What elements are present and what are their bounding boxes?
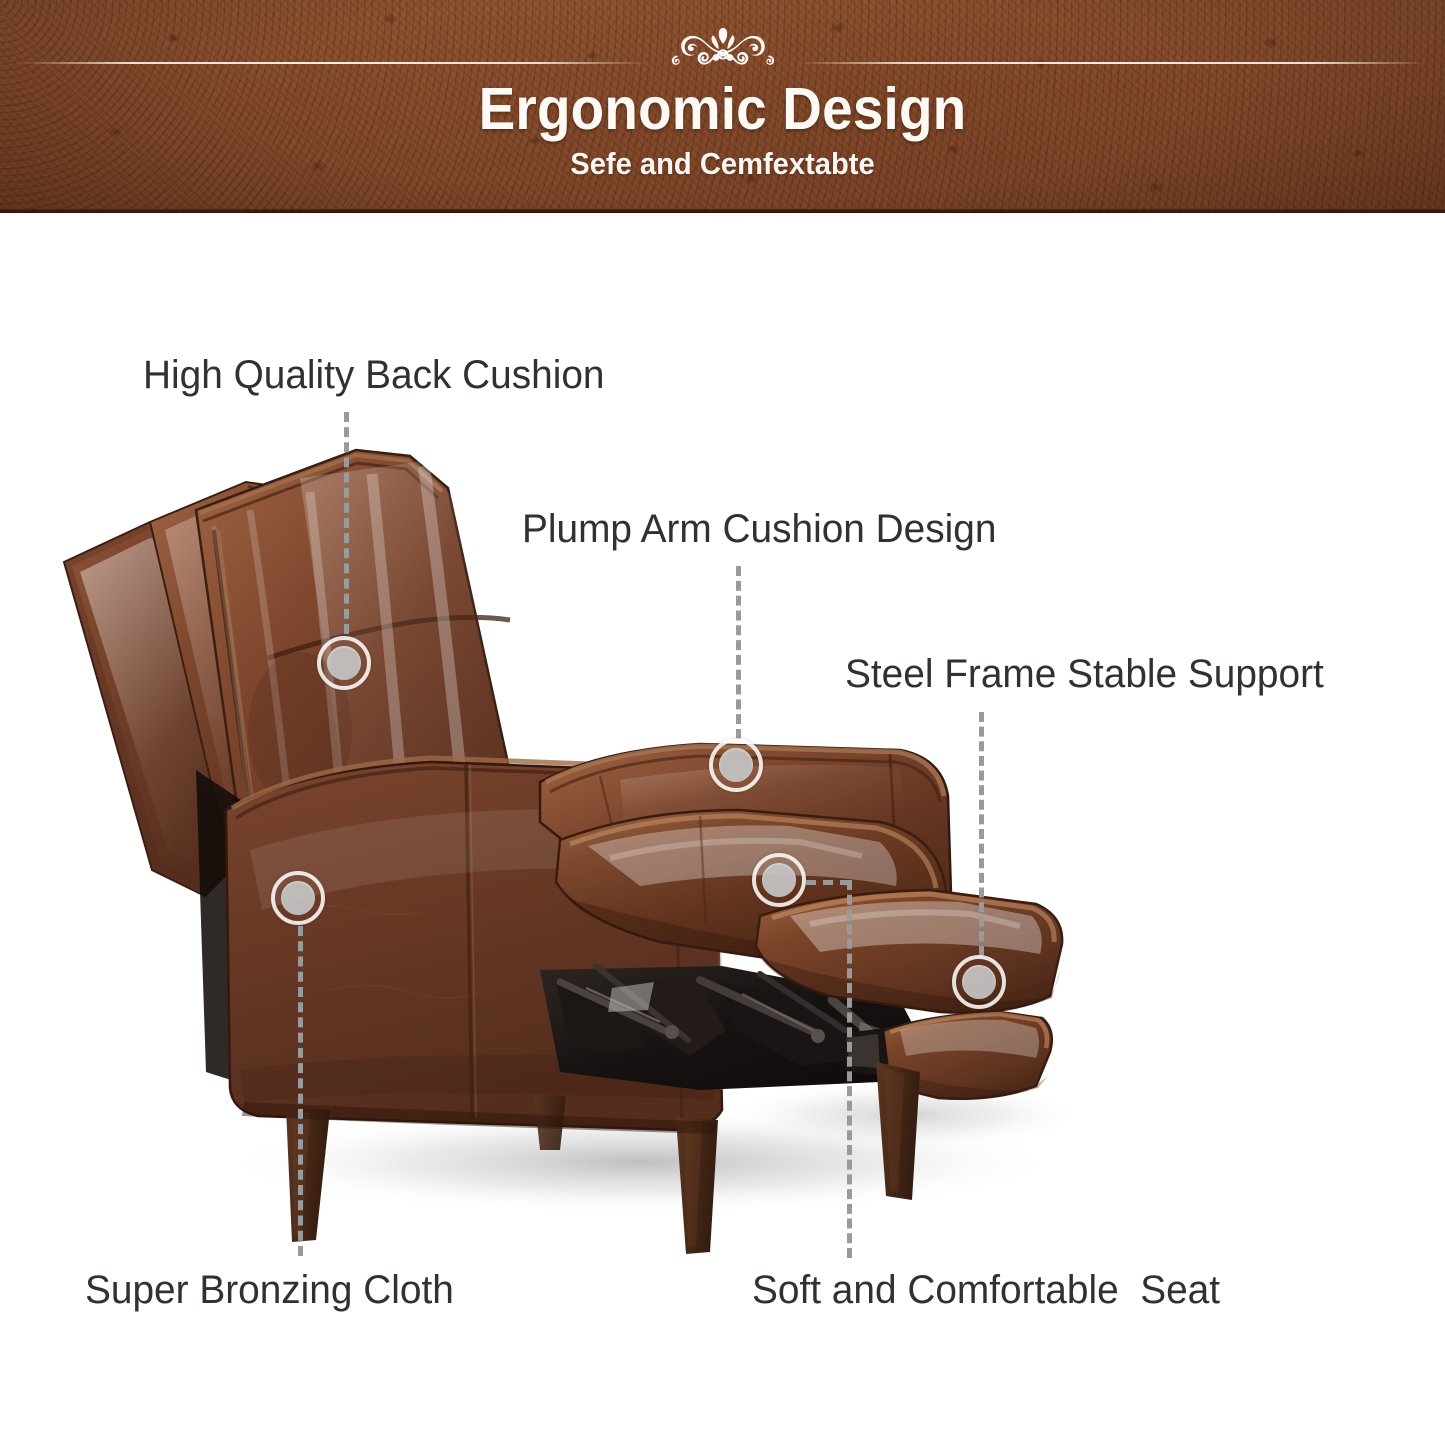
- banner-rule-left: [18, 62, 648, 64]
- infographic-canvas: Ergonomic Design Sefe and Cemfextabte: [0, 0, 1445, 1445]
- banner-subtitle: Sefe and Cemfextabte: [43, 148, 1401, 179]
- callout-label-bronzing-cloth: Super Bronzing Cloth: [85, 1270, 454, 1310]
- connector-back-cushion: [344, 412, 349, 634]
- flourish-ornament-icon: [628, 22, 818, 84]
- callout-marker-bronzing-cloth[interactable]: [271, 871, 325, 925]
- callout-marker-seat[interactable]: [752, 853, 806, 907]
- connector-seat-vertical: [847, 880, 852, 1258]
- callout-marker-back-cushion[interactable]: [317, 636, 371, 690]
- callout-label-back-cushion: High Quality Back Cushion: [143, 355, 605, 395]
- banner-rule-right: [797, 62, 1427, 64]
- callout-label-seat: Soft and Comfortable Seat: [752, 1270, 1220, 1310]
- connector-steel-frame: [979, 712, 984, 956]
- banner-title: Ergonomic Design: [51, 80, 1395, 139]
- callout-marker-steel-frame[interactable]: [952, 955, 1006, 1009]
- header-banner: Ergonomic Design Sefe and Cemfextabte: [0, 0, 1445, 213]
- connector-arm-cushion: [736, 566, 741, 739]
- callout-marker-arm-cushion[interactable]: [709, 738, 763, 792]
- callout-label-steel-frame: Steel Frame Stable Support: [845, 654, 1324, 694]
- connector-seat-horizontal: [806, 880, 850, 885]
- callout-label-arm-cushion: Plump Arm Cushion Design: [522, 509, 996, 549]
- connector-bronzing-cloth: [298, 926, 303, 1256]
